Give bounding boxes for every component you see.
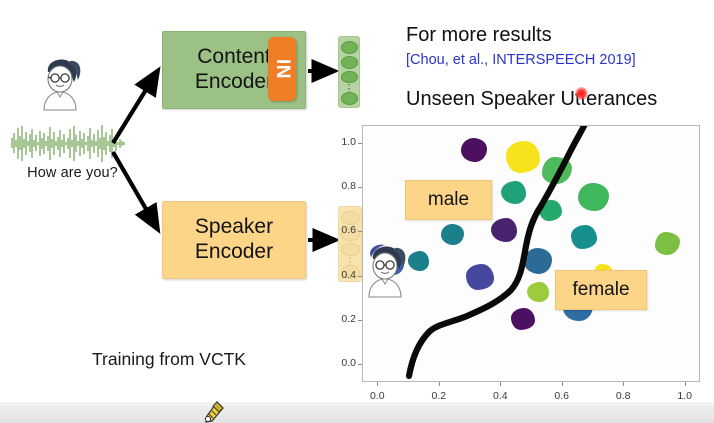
speaker-cluster-blob	[578, 183, 609, 212]
y-axis-tick	[358, 187, 362, 188]
y-axis-tick	[358, 143, 362, 144]
content-vector-cell	[341, 56, 358, 69]
content-vector-cell	[341, 92, 358, 105]
speaker-cluster-blob	[441, 224, 464, 245]
content-embedding-vector: ⋮	[338, 36, 360, 108]
training-dataset-note: Training from VCTK	[92, 349, 246, 370]
y-axis-tick-label: 0.0	[316, 357, 356, 369]
instance-norm-label: IN	[271, 59, 293, 79]
y-axis-tick	[358, 276, 362, 277]
more-results-heading: For more results	[406, 24, 552, 47]
x-axis-tick	[562, 382, 563, 386]
speaker-cluster-blob	[655, 232, 680, 255]
x-axis-tick	[439, 382, 440, 386]
y-axis-tick-label: 0.4	[316, 269, 356, 281]
speaker-cluster-blob	[511, 308, 535, 330]
bottom-status-strip	[0, 402, 714, 423]
x-axis-tick	[377, 382, 378, 386]
speaker-encoder-box[interactable]: Speaker Encoder	[162, 201, 306, 279]
x-axis-tick	[685, 382, 686, 386]
speaker-cluster-blob	[571, 225, 597, 249]
speaker-encoder-label-line1: Speaker	[195, 215, 273, 240]
speaker-cluster-blob	[501, 181, 526, 204]
speaker-cluster-blob	[461, 138, 487, 162]
speaker-cluster-blob	[506, 141, 540, 172]
x-axis-tick	[500, 382, 501, 386]
female-annotation-label: female	[555, 270, 647, 310]
audio-waveform	[8, 120, 128, 166]
content-encoder-label-line1: Content	[195, 45, 273, 70]
speaker-cluster-blob	[539, 200, 562, 221]
y-axis-tick-label: 0.6	[316, 224, 356, 236]
y-axis-tick-label: 0.2	[316, 313, 356, 325]
speaker-cluster-blob	[491, 218, 517, 242]
male-annotation-label: male	[405, 180, 492, 220]
instance-norm-chip[interactable]: IN	[268, 37, 296, 101]
speaker-encoder-label-line2: Encoder	[195, 240, 273, 265]
content-vector-cell	[341, 71, 358, 84]
y-axis-tick	[358, 320, 362, 321]
y-axis-tick	[358, 231, 362, 232]
content-encoder-label-line2: Encoder	[195, 70, 273, 95]
speaker-cluster-blob	[466, 264, 494, 290]
speaker-vector-cell	[341, 211, 360, 225]
x-axis-tick-label: 1.0	[665, 390, 705, 402]
content-vector-cell	[341, 41, 358, 54]
speaker-cluster-blob	[527, 282, 549, 302]
y-axis-tick-label: 0.8	[316, 180, 356, 192]
x-axis-tick-label: 0.4	[480, 390, 520, 402]
y-axis-tick	[358, 364, 362, 365]
speaker-cluster-blob	[524, 248, 552, 274]
x-axis-tick-label: 0.6	[542, 390, 582, 402]
x-axis-tick-label: 0.8	[603, 390, 643, 402]
x-axis-tick-label: 0.0	[357, 390, 397, 402]
speaker-vector-cell	[341, 243, 360, 257]
speaker-avatar-plot	[362, 239, 415, 299]
pencil-cursor	[203, 400, 225, 423]
plot-title: Unseen Speaker Utterances	[406, 88, 657, 111]
x-axis-tick-label: 0.2	[419, 390, 459, 402]
speaker-cluster-blob	[542, 157, 572, 185]
speaker-avatar-input	[30, 52, 90, 112]
y-axis-tick-label: 1.0	[316, 136, 356, 148]
input-caption: How are you?	[5, 165, 140, 181]
slide-canvas: How are you? Content Encoder IN Speaker …	[0, 0, 714, 423]
citation-link[interactable]: [Chou, et al., INTERSPEECH 2019]	[406, 52, 636, 68]
x-axis-tick	[623, 382, 624, 386]
speaker-embedding-scatter-plot[interactable]: male female	[362, 125, 700, 382]
laser-pointer-dot	[575, 87, 588, 100]
